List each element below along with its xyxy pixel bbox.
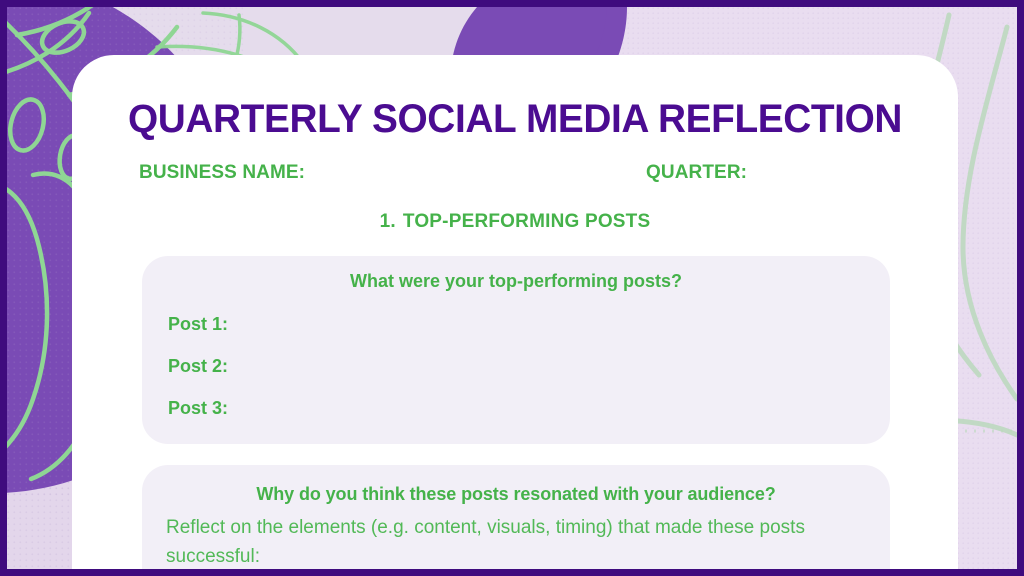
section-title: TOP-PERFORMING POSTS bbox=[403, 211, 651, 232]
quarter-label: QUARTER: bbox=[646, 162, 747, 184]
page-title: QUARTERLY SOCIAL MEDIA REFLECTION bbox=[85, 97, 944, 142]
card-top-performing-posts: What were your top-performing posts? Pos… bbox=[142, 256, 890, 444]
list-item[interactable]: Post 2: bbox=[168, 345, 890, 387]
list-item[interactable]: Post 3: bbox=[168, 387, 890, 429]
section-number: 1. bbox=[380, 211, 396, 232]
post-list: Post 1: Post 2: Post 3: bbox=[142, 303, 890, 429]
list-item[interactable]: Post 1: bbox=[168, 303, 890, 345]
business-name-label: BUSINESS NAME: bbox=[139, 162, 305, 184]
poster-canvas: QUARTERLY SOCIAL MEDIA REFLECTION BUSINE… bbox=[0, 0, 1024, 576]
card-question: Why do you think these posts resonated w… bbox=[142, 465, 890, 505]
card-question: What were your top-performing posts? bbox=[142, 256, 890, 292]
card-why-resonated: Why do you think these posts resonated w… bbox=[142, 465, 890, 576]
worksheet-sheet: QUARTERLY SOCIAL MEDIA REFLECTION BUSINE… bbox=[72, 55, 958, 576]
section-heading: 1.TOP-PERFORMING POSTS bbox=[72, 211, 958, 233]
meta-row: BUSINESS NAME: QUARTER: bbox=[106, 162, 924, 188]
card-note: Reflect on the elements (e.g. content, v… bbox=[142, 505, 890, 571]
